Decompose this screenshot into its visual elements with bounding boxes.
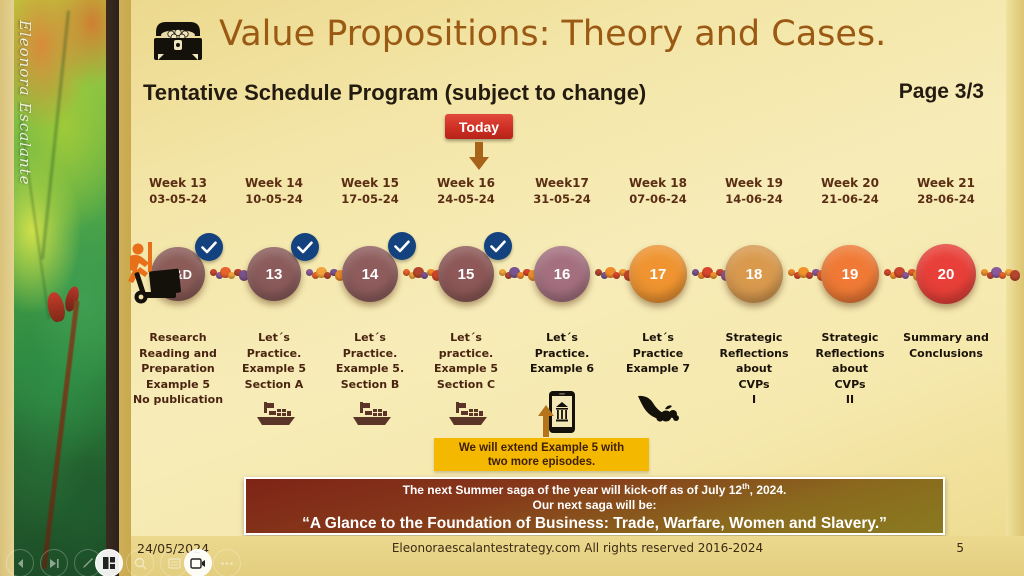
- treasure-chest-icon: [148, 18, 208, 64]
- timeline-week-header: Week 2021-06-24: [800, 176, 900, 207]
- callout-line-1: We will extend Example 5 with: [459, 442, 624, 454]
- slide-main-area: Value Propositions: Theory and Cases. Te…: [131, 0, 1024, 576]
- description-line: Let´s: [316, 330, 424, 346]
- today-badge: Today: [445, 114, 513, 139]
- player-controls[interactable]: [0, 548, 1024, 576]
- description-line: CVPs: [796, 377, 904, 393]
- left-decorative-strip: Eleonora Escalante: [0, 0, 131, 576]
- page-subtitle: Tentative Schedule Program (subject to c…: [143, 80, 646, 106]
- description-line: I: [700, 392, 808, 408]
- description-line: CVPs: [700, 377, 808, 393]
- description-line: Example 5.: [316, 361, 424, 377]
- timeline-node-description: Let´sPractice.Example 5Section A: [220, 330, 328, 392]
- description-line: Section A: [220, 377, 328, 393]
- cargo-ship-icon: [347, 400, 393, 431]
- timeline-week-header: Week 1303-05-24: [128, 176, 228, 207]
- description-line: Reflections: [796, 346, 904, 362]
- completed-check-icon: [388, 232, 416, 260]
- banner-line-1-b: , 2024.: [750, 483, 787, 497]
- description-line: Research: [124, 330, 232, 346]
- week-date: 10-05-24: [224, 191, 324, 207]
- next-saga-banner: The next Summer saga of the year will ki…: [244, 477, 945, 535]
- play-button[interactable]: [40, 549, 68, 576]
- layout-button[interactable]: [95, 549, 123, 576]
- cornucopia-icon: [635, 393, 681, 428]
- timeline-week-header: Week 1914-06-24: [704, 176, 804, 207]
- extend-example-callout: We will extend Example 5 with two more e…: [434, 438, 649, 471]
- description-line: II: [796, 392, 904, 408]
- week-label: Week 18: [608, 176, 708, 191]
- camera-button[interactable]: [184, 549, 212, 576]
- timeline-node[interactable]: 18: [725, 245, 783, 303]
- week-label: Week 21: [896, 176, 996, 191]
- more-options-button[interactable]: [213, 549, 241, 576]
- completed-check-icon: [291, 233, 319, 261]
- timeline-node-description: Summary andConclusions: [892, 330, 1000, 361]
- timeline-node-description: Let´sPracticeExample 7: [604, 330, 712, 377]
- description-line: Strategic: [796, 330, 904, 346]
- description-line: Let´s: [508, 330, 616, 346]
- timeline-node-description: ResearchReading andPreparationExample 5N…: [124, 330, 232, 408]
- timeline-bead: [1010, 270, 1020, 280]
- artist-signature: Eleonora Escalante: [10, 20, 34, 200]
- dolly-worker-icon: [120, 240, 192, 309]
- page-indicator: Page 3/3: [899, 80, 984, 104]
- timeline-node[interactable]: 15: [438, 246, 494, 302]
- banner-line-2: Our next saga will be:: [532, 498, 656, 513]
- week-label: Week 19: [704, 176, 804, 191]
- week-date: 28-06-24: [896, 191, 996, 207]
- week-label: Week 16: [416, 176, 516, 191]
- description-line: Strategic: [700, 330, 808, 346]
- callout-line-2: two more episodes.: [488, 456, 595, 468]
- flower-bud-2: [63, 285, 82, 313]
- timeline-node-description: StrategicReflectionsaboutCVPsI: [700, 330, 808, 408]
- description-line: about: [796, 361, 904, 377]
- description-line: Example 6: [508, 361, 616, 377]
- week-date: 24-05-24: [416, 191, 516, 207]
- week-label: Week17: [512, 176, 612, 191]
- description-line: Conclusions: [892, 346, 1000, 362]
- description-line: Summary and: [892, 330, 1000, 346]
- cargo-ship-icon: [251, 400, 297, 431]
- strip-dark-edge: [106, 0, 119, 576]
- description-line: Example 7: [604, 361, 712, 377]
- week-date: 03-05-24: [128, 191, 228, 207]
- week-date: 21-06-24: [800, 191, 900, 207]
- week-date: 17-05-24: [320, 191, 420, 207]
- banner-line-1: The next Summer saga of the year will ki…: [403, 479, 787, 498]
- description-line: Example 5: [124, 377, 232, 393]
- description-line: Example 5: [220, 361, 328, 377]
- week-label: Week 20: [800, 176, 900, 191]
- right-edge-gradient: [1006, 0, 1024, 576]
- banner-line-3: “A Glance to the Foundation of Business:…: [302, 514, 887, 534]
- today-badge-label: Today: [459, 119, 499, 135]
- timeline-week-header: Week 2128-06-24: [896, 176, 996, 207]
- description-line: Preparation: [124, 361, 232, 377]
- description-line: Let´s: [220, 330, 328, 346]
- banner-line-1-sup: th: [742, 482, 750, 491]
- banner-line-1-a: The next Summer saga of the year will ki…: [403, 483, 742, 497]
- timeline-node[interactable]: 17: [629, 245, 687, 303]
- page-title: Value Propositions: Theory and Cases.: [219, 14, 886, 54]
- description-line: Section C: [412, 377, 520, 393]
- completed-check-icon: [195, 233, 223, 261]
- timeline-node-description: StrategicReflectionsaboutCVPsII: [796, 330, 904, 408]
- week-date: 31-05-24: [512, 191, 612, 207]
- description-line: Practice: [604, 346, 712, 362]
- completed-check-icon: [484, 232, 512, 260]
- zoom-button[interactable]: [126, 549, 154, 576]
- description-line: Example 5: [412, 361, 520, 377]
- up-arrow-icon: [538, 405, 554, 437]
- timeline-node[interactable]: 14: [342, 246, 398, 302]
- description-line: about: [700, 361, 808, 377]
- previous-button[interactable]: [6, 549, 34, 576]
- timeline-week-header: Week 1410-05-24: [224, 176, 324, 207]
- timeline-node[interactable]: 19: [821, 245, 879, 303]
- week-label: Week 14: [224, 176, 324, 191]
- description-line: Reflections: [700, 346, 808, 362]
- timeline-week-header: Week 1517-05-24: [320, 176, 420, 207]
- description-line: Reading and: [124, 346, 232, 362]
- description-line: Practice.: [316, 346, 424, 362]
- description-line: Practice.: [508, 346, 616, 362]
- timeline-week-header: Week1731-05-24: [512, 176, 612, 207]
- week-label: Week 13: [128, 176, 228, 191]
- description-line: Section B: [316, 377, 424, 393]
- timeline-week-header: Week 1807-06-24: [608, 176, 708, 207]
- timeline-node-description: Let´sPractice.Example 5.Section B: [316, 330, 424, 392]
- week-label: Week 15: [320, 176, 420, 191]
- timeline-week-header: Week 1624-05-24: [416, 176, 516, 207]
- timeline-node-description: Let´spractice.Example 5Section C: [412, 330, 520, 392]
- timeline-node[interactable]: 20: [916, 244, 976, 304]
- description-line: No publication: [124, 392, 232, 408]
- today-down-arrow-icon: [469, 142, 489, 170]
- week-date: 14-06-24: [704, 191, 804, 207]
- leaf-stem: [42, 301, 80, 570]
- timeline-node[interactable]: 16: [534, 246, 590, 302]
- description-line: Let´s: [604, 330, 712, 346]
- timeline-node-description: Let´sPractice.Example 6: [508, 330, 616, 377]
- week-date: 07-06-24: [608, 191, 708, 207]
- slide-canvas: Eleonora Escalante Value Propositions:: [0, 0, 1024, 576]
- description-line: Let´s: [412, 330, 520, 346]
- description-line: practice.: [412, 346, 520, 362]
- cargo-ship-icon: [443, 400, 489, 431]
- description-line: Practice.: [220, 346, 328, 362]
